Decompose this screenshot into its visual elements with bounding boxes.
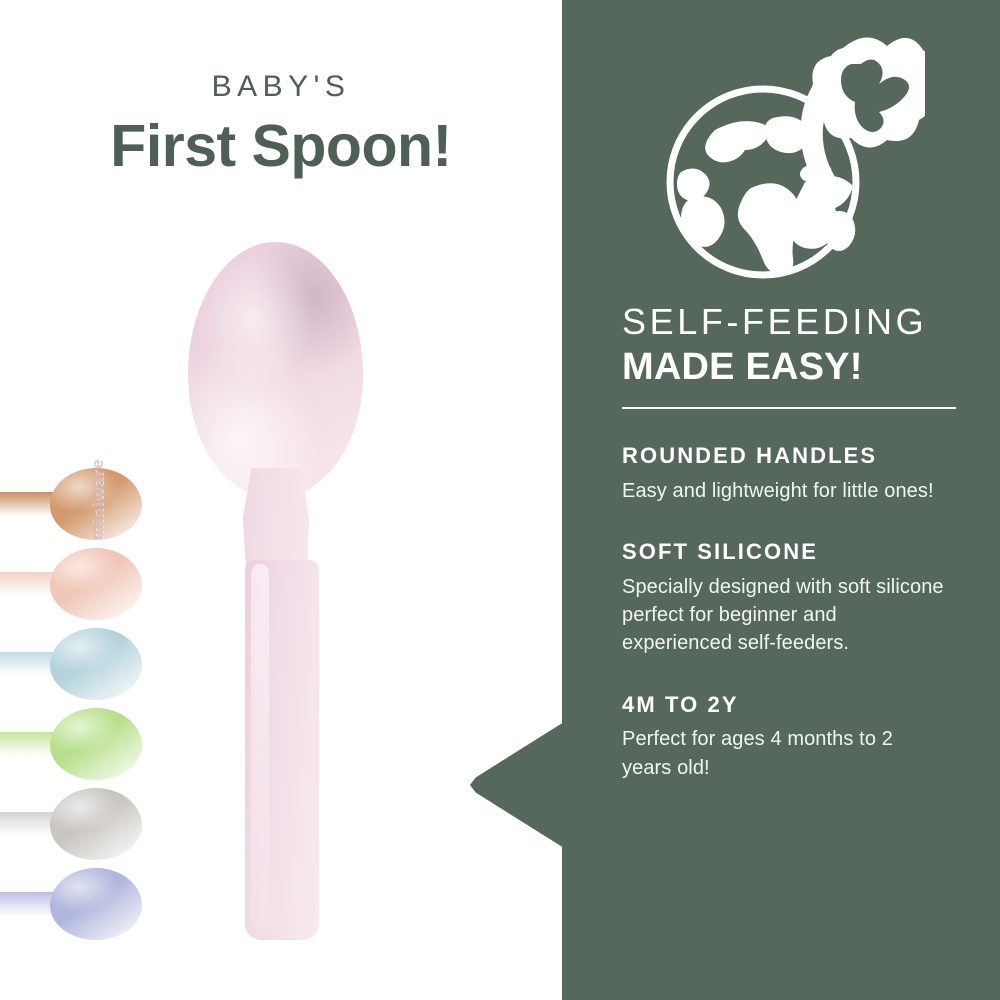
- feature-title: 4M TO 2Y: [622, 692, 962, 718]
- panel-pointer-arrow: [470, 722, 564, 848]
- feature-body: Easy and lightweight for little ones!: [622, 477, 944, 505]
- title-divider: [622, 407, 956, 409]
- swatch-bowl: [50, 788, 142, 860]
- color-swatch-caramel[interactable]: [0, 468, 142, 540]
- color-swatch-blush[interactable]: [0, 548, 142, 620]
- feature-title: ROUNDED HANDLES: [622, 443, 962, 469]
- panel-content: SELF-FEEDING MADE EASY! ROUNDED HANDLES …: [622, 0, 962, 782]
- color-swatch-aqua[interactable]: [0, 628, 142, 700]
- page-title: First Spoon!: [0, 116, 562, 178]
- swatch-bowl: [50, 868, 142, 940]
- panel-title-line2: MADE EASY!: [622, 347, 962, 387]
- color-swatch-key-lime[interactable]: [0, 708, 142, 780]
- feature-item: SOFT SILICONE Specially designed with so…: [622, 539, 962, 658]
- panel-title-line1: SELF-FEEDING: [622, 303, 962, 341]
- eyebrow-text: BABY'S: [0, 72, 562, 102]
- spoon-handle: [245, 560, 319, 940]
- feature-item: 4M TO 2Y Perfect for ages 4 months to 2 …: [622, 692, 962, 782]
- headline-block: BABY'S First Spoon!: [0, 72, 562, 178]
- color-swatch-cobalt[interactable]: [0, 868, 142, 940]
- feature-body: Perfect for ages 4 months to 2 years old…: [622, 725, 944, 782]
- feature-item: ROUNDED HANDLES Easy and lightweight for…: [622, 443, 962, 505]
- swatch-bowl: [50, 548, 142, 620]
- product-image-spoon: [170, 230, 400, 960]
- swatch-bowl: [50, 708, 142, 780]
- swatch-bowl: [50, 628, 142, 700]
- infographic-canvas: BABY'S First Spoon! miniware SELF-FEEDIN…: [0, 0, 1000, 1000]
- spoon-bowl: [188, 242, 363, 497]
- brand-emboss-logo: miniware: [88, 458, 108, 540]
- feature-body: Specially designed with soft silicone pe…: [622, 573, 944, 658]
- color-swatch-grey[interactable]: [0, 788, 142, 860]
- feature-title: SOFT SILICONE: [622, 539, 962, 565]
